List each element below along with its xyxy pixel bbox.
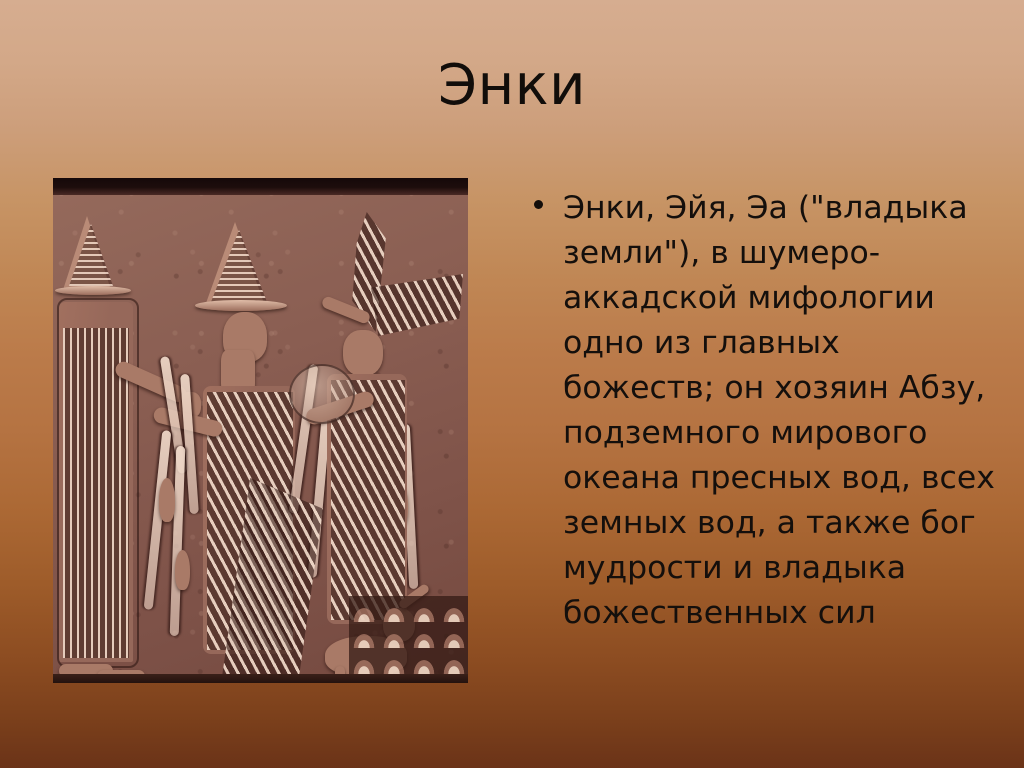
bullet-point-icon [534, 200, 543, 209]
relief-bottom-shadow-band [53, 674, 468, 683]
relief-artwork [53, 178, 468, 683]
list-item: Энки, Эйя, Эа ("владыка земли"), в шумер… [525, 186, 995, 636]
relief-photo [53, 178, 468, 683]
figure-right-held-object [289, 364, 355, 424]
body-paragraph: Энки, Эйя, Эа ("владыка земли"), в шумер… [563, 186, 995, 636]
water-stream-4 [170, 446, 186, 636]
slide-body: Энки, Эйя, Эа ("владыка земли"), в шумер… [525, 186, 995, 636]
page-title: Энки [438, 56, 586, 116]
figure-right-head [343, 330, 383, 376]
presentation-slide: Энки [0, 0, 1024, 768]
fish-lower [175, 550, 190, 590]
relief-top-shadow-band [53, 178, 468, 195]
figure-left-outline [57, 298, 139, 668]
fish-upper [159, 478, 175, 522]
slide-title-container: Энки [0, 56, 1024, 116]
crown-brim-enki [195, 300, 287, 311]
mountain-scales-right [349, 596, 468, 683]
crown-brim-left [55, 286, 131, 295]
bird-wing-icon [371, 274, 463, 336]
